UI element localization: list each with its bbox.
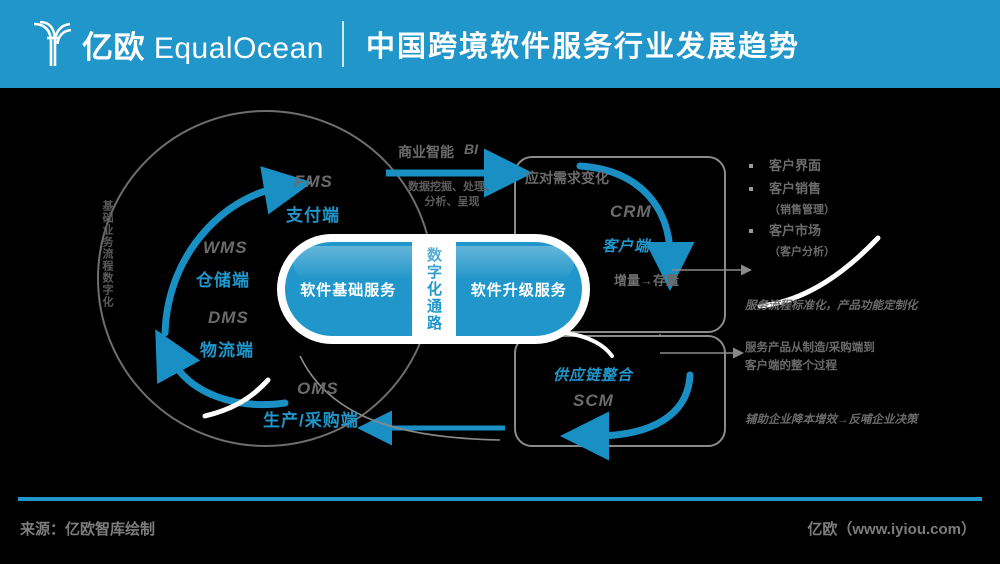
crm-en: CRM [610, 202, 652, 222]
crm-bullet-2-sub: （客户分析） [769, 244, 985, 260]
module-wms-cn: 仓储端 [196, 266, 250, 291]
scm-en: SCM [573, 391, 614, 411]
bullet-dot-icon [749, 187, 753, 191]
bi-caption-line2: 分析、呈现 [396, 195, 508, 210]
footer-divider [18, 497, 982, 501]
capsule-middle-label: 数字化通路 [426, 247, 441, 332]
slide-header: 亿欧 EqualOcean 中国跨境软件服务行业发展趋势 [0, 0, 1000, 88]
brand-logo-cn: 亿欧 [82, 30, 145, 65]
scm-note-line2: 客户端的整个过程 [745, 358, 837, 375]
capsule-middle: 数字化通路 [412, 242, 456, 336]
slide-root: 亿欧 EqualOcean 中国跨境软件服务行业发展趋势 [0, 0, 1000, 564]
capsule-inner: 软件基础服务 数字化通路 软件升级服务 [285, 242, 582, 336]
module-fms-en: FMS [294, 172, 333, 192]
digital-capsule: 软件基础服务 数字化通路 软件升级服务 [277, 234, 590, 344]
header-divider [342, 21, 344, 67]
page-title: 中国跨境软件服务行业发展趋势 [366, 23, 800, 65]
scm-box [514, 335, 726, 447]
crm-bullet-1-label: 客户销售 [769, 179, 821, 199]
module-wms-en: WMS [203, 238, 248, 258]
crm-sub: 增量→存量 [614, 270, 679, 289]
module-oms-en: OMS [297, 379, 339, 399]
footer-source: 来源：亿欧智库绘制 [20, 518, 155, 539]
diagram-canvas: 软件基础服务 数字化通路 软件升级服务 基础业务流程数字化 FMS 支付端 WM… [0, 88, 1000, 486]
footer-site: 亿欧（www.iyiou.com） [807, 518, 976, 539]
scm-note-line1: 服务产品从制造/采购端到 [745, 340, 875, 357]
crm-note: 服务流程标准化，产品功能定制化 [745, 298, 918, 315]
list-item: 客户市场 [745, 221, 985, 241]
bi-label-cn: 商业智能 [398, 142, 454, 162]
capsule-left-label: 软件基础服务 [285, 279, 412, 300]
scm-cn: 供应链整合 [553, 364, 633, 385]
bi-caption-line1: 数据挖掘、处理、 [396, 180, 508, 195]
brand-logo: 亿欧 EqualOcean [30, 18, 324, 70]
crm-bullet-1-sub: （销售管理） [769, 202, 985, 218]
crm-bullet-2-label: 客户市场 [769, 221, 821, 241]
brand-logo-text: 亿欧 EqualOcean [82, 22, 324, 67]
bullet-dot-icon [749, 229, 753, 233]
bi-label-en: BI [464, 141, 478, 157]
module-oms-cn: 生产/采购端 [263, 406, 359, 431]
module-fms-cn: 支付端 [286, 201, 340, 226]
module-dms-en: DMS [208, 308, 249, 328]
list-item: 客户界面 [745, 156, 985, 176]
brand-logo-en: EqualOcean [154, 32, 324, 65]
equalocean-tree-logo-icon [30, 18, 74, 70]
bi-caption: 数据挖掘、处理、 分析、呈现 [396, 180, 508, 210]
crm-cn: 客户端 [602, 235, 650, 256]
ring-vertical-label: 基础业务流程数字化 [101, 200, 112, 308]
list-item: 客户销售 [745, 179, 985, 199]
crm-bullet-0-label: 客户界面 [769, 156, 821, 176]
scm-note-italic: 辅助企业降本增效→反哺企业决策 [745, 412, 918, 429]
capsule-right-label: 软件升级服务 [456, 279, 583, 300]
crm-bullet-list: 客户界面 客户销售 （销售管理） 客户市场 （客户分析） [745, 156, 985, 263]
bullet-dot-icon [749, 164, 753, 168]
module-dms-cn: 物流端 [200, 336, 254, 361]
crm-headline: 应对需求变化 [525, 168, 609, 188]
